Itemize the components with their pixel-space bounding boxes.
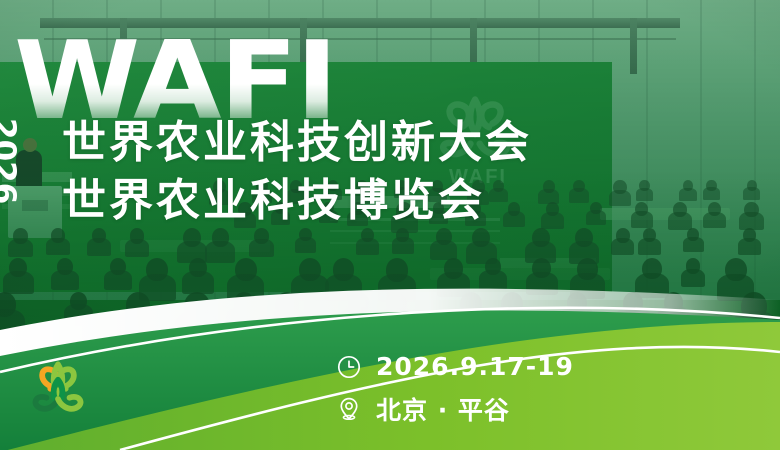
- title-line-expo: 世界农业科技博览会: [62, 172, 532, 230]
- event-info-block: 2026.9.17-19 北京 · 平谷: [336, 352, 574, 427]
- location-pin-icon: [336, 396, 362, 422]
- info-row-location: 北京 · 平谷: [336, 391, 574, 427]
- event-poster: WAFI // crowd is generated below by the …: [0, 0, 780, 450]
- wafi-emblem-logo: [26, 358, 90, 422]
- info-row-date: 2026.9.17-19: [336, 352, 574, 381]
- year-label: 2026: [0, 118, 22, 204]
- event-date-text: 2026.9.17-19: [376, 352, 574, 381]
- clock-icon: [336, 354, 362, 380]
- title-line-conference: 世界农业科技创新大会: [62, 114, 532, 172]
- title-block: 世界农业科技创新大会 世界农业科技博览会: [62, 114, 532, 230]
- event-location-text: 北京 · 平谷: [376, 391, 510, 427]
